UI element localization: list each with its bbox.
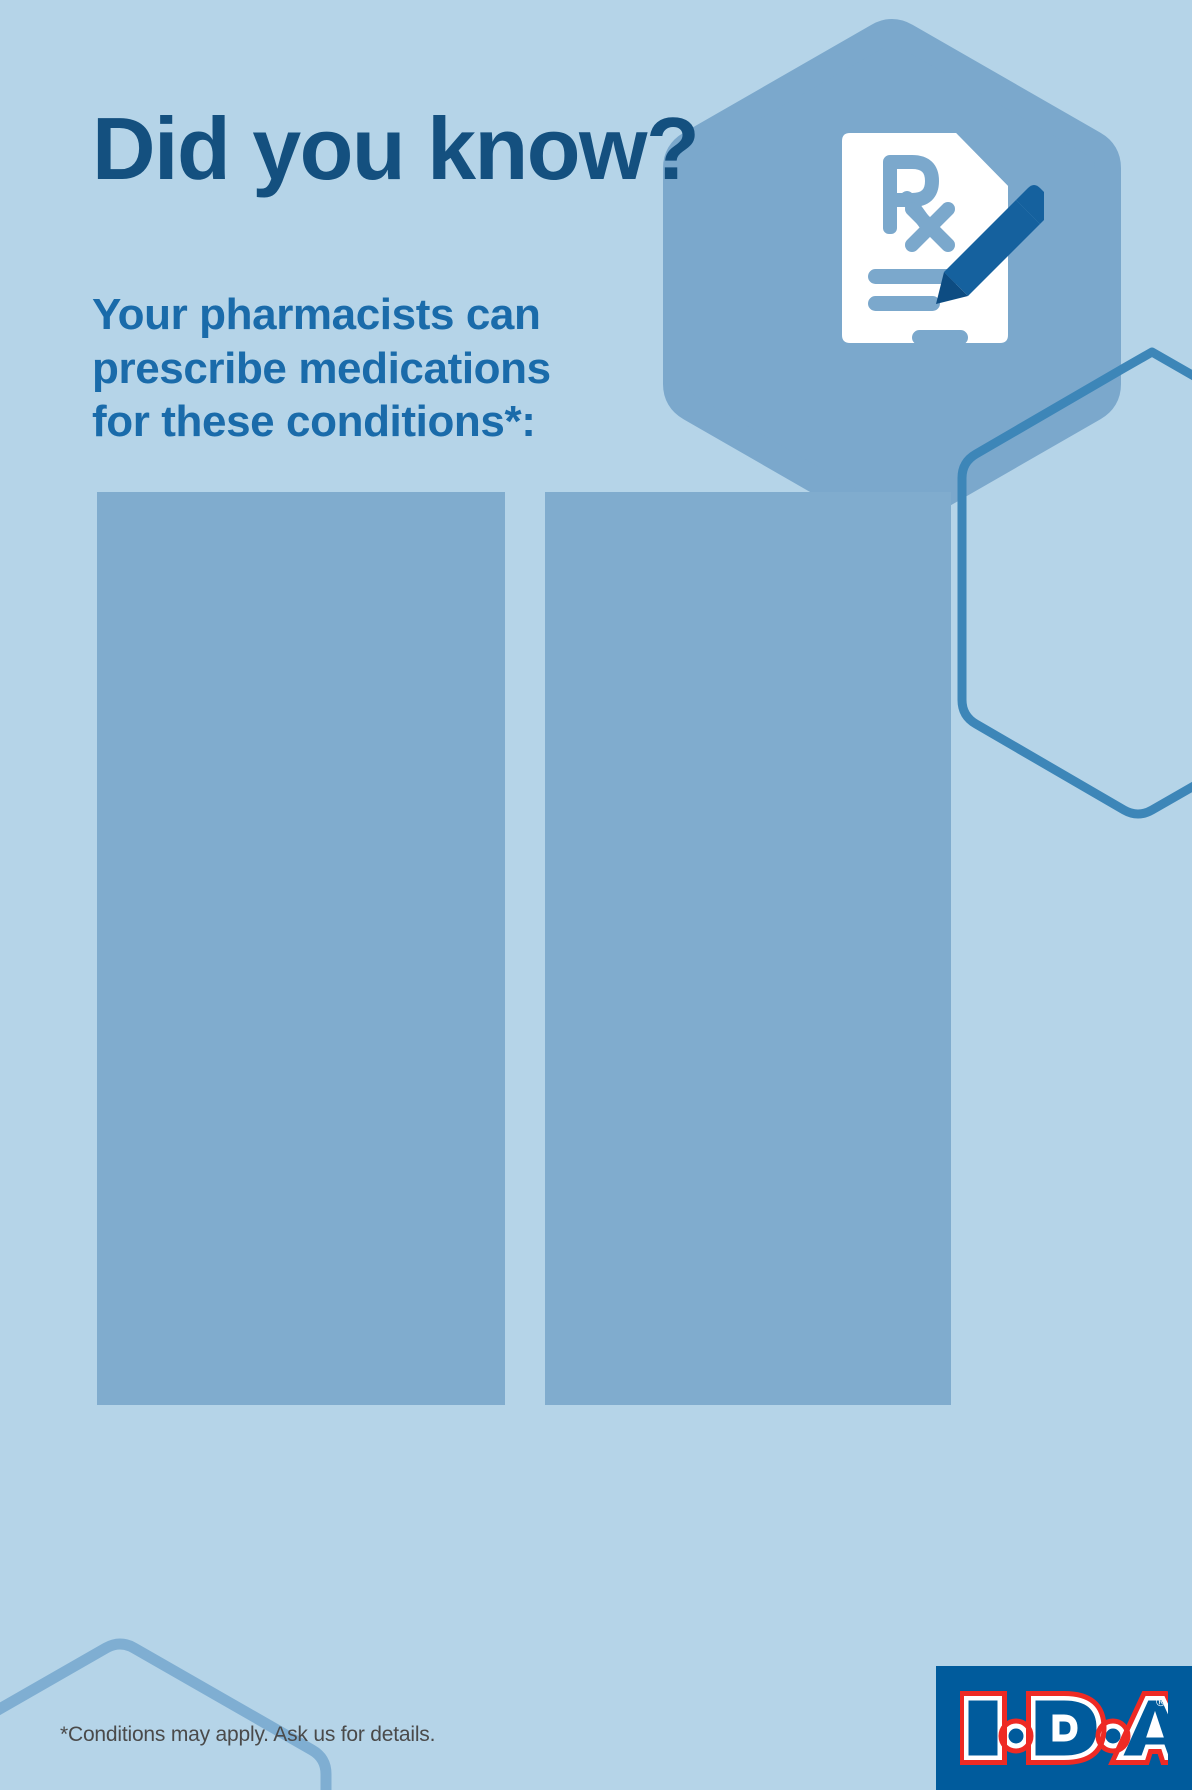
ida-separator-dot-1 [1005, 1725, 1027, 1747]
hexagon-outline-bottom-left-shape [0, 1644, 326, 1790]
page-subtitle: Your pharmacists can prescribe medicatio… [92, 288, 551, 449]
conditions-panel-left [97, 492, 505, 1405]
ida-letter-i [965, 1697, 1001, 1759]
ida-logo: ® [936, 1666, 1192, 1790]
rx-prescription-icon [744, 30, 1044, 430]
subtitle-line-2: prescribe medications [92, 342, 551, 396]
prescription-rule-line-2 [868, 296, 940, 311]
subtitle-line-1: Your pharmacists can [92, 288, 551, 342]
subtitle-line-3: for these conditions*: [92, 395, 551, 449]
page-title: Did you know? [92, 104, 698, 194]
ida-registered-mark: ® [1156, 1694, 1166, 1709]
ida-letter-d [1032, 1697, 1100, 1759]
paper-fold-corner-shape [956, 133, 1008, 186]
poster-canvas: Did you know? Your pharmacists can presc… [0, 0, 1192, 1790]
conditions-panel-right [545, 492, 951, 1405]
prescription-signature-line [912, 330, 968, 345]
footnote-disclaimer: *Conditions may apply. Ask us for detail… [60, 1723, 435, 1747]
